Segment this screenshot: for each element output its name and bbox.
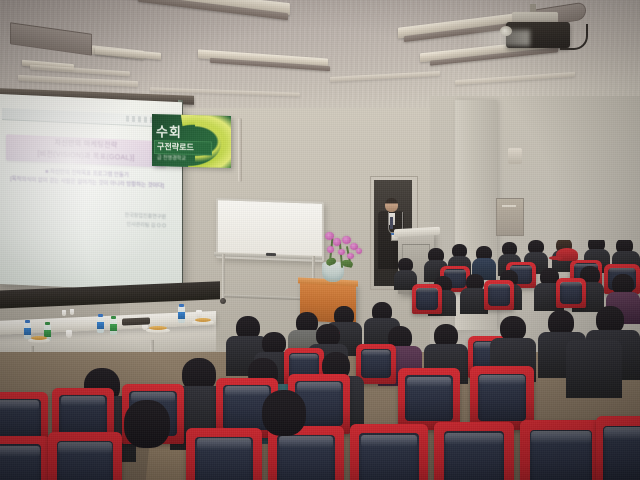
- seat[interactable]: [412, 284, 442, 314]
- orchid-flower: [325, 232, 334, 240]
- seat[interactable]: [596, 416, 640, 480]
- projector-light-beam: [470, 30, 530, 46]
- audience-head: [124, 400, 170, 448]
- banner-title: 수회: [156, 121, 182, 141]
- audience-body: [566, 340, 622, 398]
- slide-body-text: ■ 자신만의 전략목표 프로그램 만들기 [목적의식이 없이 걷는 사람은 걸어…: [4, 166, 170, 192]
- seat[interactable]: [520, 420, 602, 480]
- seat[interactable]: [0, 436, 50, 480]
- banner-subtitle: 구전략로드: [157, 141, 194, 153]
- event-banner: 수회 구전략로드 급 천명경학교: [152, 114, 231, 168]
- red-baseball-cap: [556, 248, 578, 261]
- wall-speaker-icon: [508, 148, 522, 164]
- seat[interactable]: [186, 428, 262, 480]
- audience-head: [262, 390, 306, 436]
- seat[interactable]: [398, 368, 460, 430]
- seat[interactable]: [434, 422, 514, 480]
- seat[interactable]: [48, 432, 122, 480]
- seat[interactable]: [484, 280, 514, 310]
- seat[interactable]: [556, 278, 586, 308]
- wall-control-panel[interactable]: [496, 198, 524, 236]
- banner-subtitle-box: 구전략로드: [154, 140, 212, 156]
- auditorium-seating: [0, 240, 640, 480]
- slide-footer-text: 한국창업진흥연구원 인사관리팀 김 O O: [76, 209, 166, 231]
- banner-hanging-pole: [238, 118, 242, 182]
- auditorium-photo: 자신만의 마케팅전략 [비전(VISION)과 목표(GOAL)] ■ 자신만의…: [0, 0, 640, 480]
- speaker-head: [385, 198, 398, 212]
- banner-caption: 급 천명경학교: [157, 154, 186, 162]
- slide-header-band: [2, 108, 172, 128]
- seat[interactable]: [350, 424, 428, 480]
